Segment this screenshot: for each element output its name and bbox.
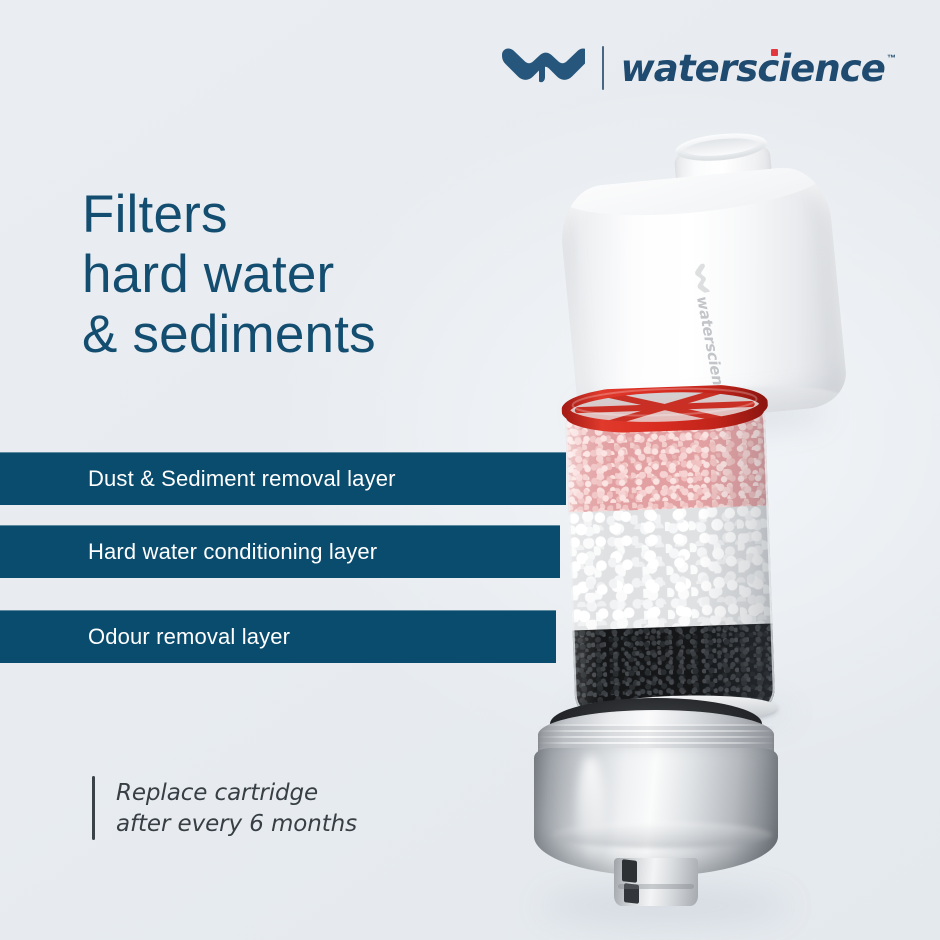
product-illustration: waterscience xyxy=(500,118,920,928)
cartridge-media-window xyxy=(565,398,776,717)
page-title: Filters hard water & sediments xyxy=(82,185,376,365)
metal-base-housing xyxy=(528,696,784,908)
brand-logo: waterscience ™ xyxy=(499,42,896,94)
footnote-accent-rule xyxy=(92,776,95,840)
feature-bar-label: Dust & Sediment removal layer xyxy=(0,466,396,492)
brand-accent-dot-icon xyxy=(771,49,778,56)
white-conditioning-media-layer xyxy=(568,506,772,633)
brand-wordmark: waterscience ™ xyxy=(621,50,896,87)
brand-wordmark-text: waterscience xyxy=(621,50,885,87)
filter-cartridge-tube xyxy=(565,398,776,717)
nozzle-notch xyxy=(622,859,637,883)
base-bottom-edge xyxy=(552,822,772,848)
replacement-note: Replace cartridge after every 6 months xyxy=(92,776,357,840)
outlet-nozzle xyxy=(614,858,698,906)
feature-bar-hard-water: Hard water conditioning layer xyxy=(0,525,560,578)
footnote-text: Replace cartridge after every 6 months xyxy=(116,776,357,840)
feature-bar-dust-sediment: Dust & Sediment removal layer xyxy=(0,452,566,505)
waterscience-w-logo-icon xyxy=(499,46,585,91)
base-drum-body xyxy=(534,748,778,876)
feature-bar-label: Odour removal layer xyxy=(0,624,290,650)
poster-canvas: waterscience ™ Filters hard water & sedi… xyxy=(0,0,940,940)
brand-divider xyxy=(602,46,604,90)
trademark-symbol: ™ xyxy=(887,53,896,63)
nozzle-ring xyxy=(618,884,694,889)
feature-bar-odour: Odour removal layer xyxy=(0,610,556,663)
waterscience-w-logo-embossed-icon xyxy=(686,262,711,295)
red-filter-cap xyxy=(561,384,768,435)
feature-bar-label: Hard water conditioning layer xyxy=(0,539,377,565)
